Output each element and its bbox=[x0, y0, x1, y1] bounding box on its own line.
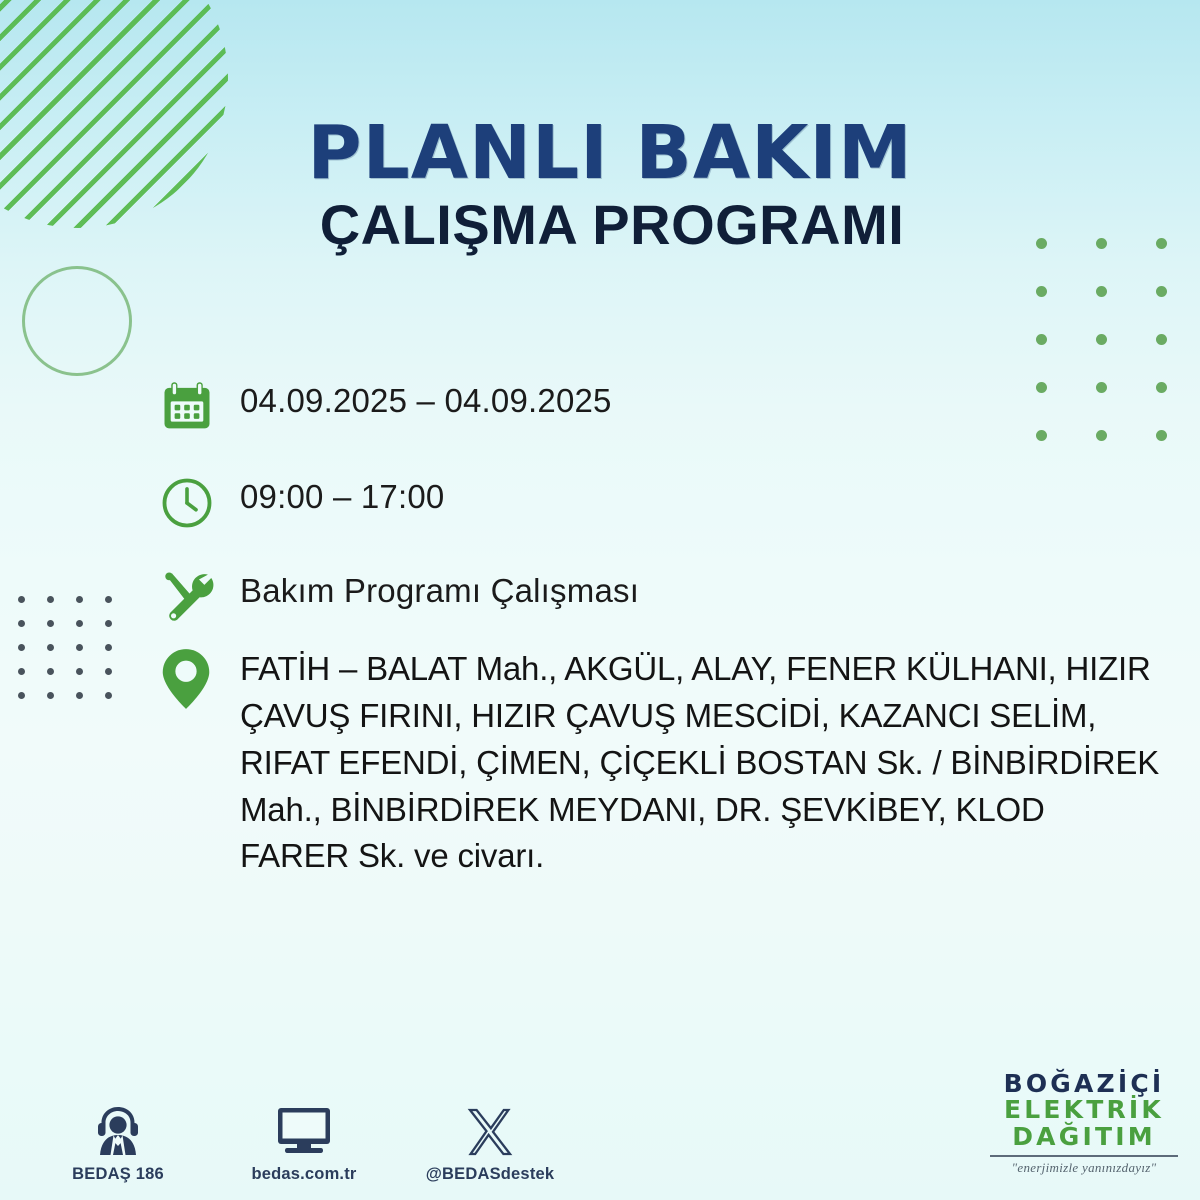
dot bbox=[18, 668, 25, 675]
circle-outline-decoration bbox=[22, 266, 132, 376]
logo-line-1: BOĞAZİÇİ bbox=[986, 1071, 1182, 1098]
poster-header: PLANLI BAKIM ÇALIŞMA PROGRAMI bbox=[0, 116, 1200, 255]
calendar-icon bbox=[160, 378, 240, 434]
contact-website[interactable]: bedas.com.tr bbox=[234, 1098, 374, 1184]
work-type-value: Bakım Programı Çalışması bbox=[240, 568, 639, 607]
date-range-value: 04.09.2025 – 04.09.2025 bbox=[240, 378, 612, 417]
dot bbox=[1036, 286, 1047, 297]
dot bbox=[47, 644, 54, 651]
contact-channels: BEDAŞ 186 bedas.com.tr bbox=[48, 1098, 560, 1184]
dot bbox=[76, 596, 83, 603]
poster-canvas: PLANLI BAKIM ÇALIŞMA PROGRAMI bbox=[0, 0, 1200, 1200]
dot bbox=[18, 644, 25, 651]
dot bbox=[105, 668, 112, 675]
dot bbox=[76, 620, 83, 627]
dot bbox=[1096, 334, 1107, 345]
time-range-value: 09:00 – 17:00 bbox=[240, 474, 444, 513]
tools-icon bbox=[160, 568, 240, 622]
dot bbox=[1156, 334, 1167, 345]
dot bbox=[1036, 334, 1047, 345]
detail-row-location: FATİH – BALAT Mah., AKGÜL, ALAY, FENER K… bbox=[160, 646, 1160, 880]
dot bbox=[47, 596, 54, 603]
detail-row-time: 09:00 – 17:00 bbox=[160, 474, 1160, 530]
dot bbox=[47, 668, 54, 675]
logo-divider bbox=[990, 1155, 1178, 1157]
logo-line-2: ELEKTRİK bbox=[986, 1097, 1182, 1124]
detail-row-work-type: Bakım Programı Çalışması bbox=[160, 568, 1160, 622]
contact-phone-label: BEDAŞ 186 bbox=[72, 1165, 164, 1184]
dot bbox=[1156, 286, 1167, 297]
dot bbox=[105, 692, 112, 699]
dot bbox=[1096, 286, 1107, 297]
dot bbox=[47, 620, 54, 627]
monitor-icon bbox=[276, 1098, 332, 1156]
logo-line-3: DAĞITIM bbox=[986, 1124, 1182, 1151]
dot bbox=[76, 644, 83, 651]
page-subtitle: ÇALIŞMA PROGRAMI bbox=[0, 196, 1200, 255]
detail-row-date: 04.09.2025 – 04.09.2025 bbox=[160, 378, 1160, 434]
location-value: FATİH – BALAT Mah., AKGÜL, ALAY, FENER K… bbox=[240, 646, 1160, 880]
dot bbox=[76, 668, 83, 675]
call-center-agent-icon bbox=[93, 1098, 143, 1156]
page-title: PLANLI BAKIM bbox=[0, 116, 1200, 190]
dot bbox=[18, 596, 25, 603]
contact-x-label: @BEDASdestek bbox=[426, 1165, 555, 1184]
logo-tagline: "enerjimizle yanınızdayız" bbox=[986, 1160, 1182, 1176]
dot bbox=[76, 692, 83, 699]
dot bbox=[105, 620, 112, 627]
dot bbox=[18, 692, 25, 699]
dot bbox=[47, 692, 54, 699]
dot-grid-left-decoration bbox=[18, 596, 134, 716]
contact-website-label: bedas.com.tr bbox=[251, 1165, 356, 1184]
dot bbox=[105, 596, 112, 603]
location-pin-icon bbox=[160, 646, 240, 710]
bedas-logo: BOĞAZİÇİ ELEKTRİK DAĞITIM "enerjimizle y… bbox=[986, 1071, 1182, 1177]
dot bbox=[105, 644, 112, 651]
contact-phone[interactable]: BEDAŞ 186 bbox=[48, 1098, 188, 1184]
poster-footer: BEDAŞ 186 bedas.com.tr bbox=[0, 1030, 1200, 1200]
dot bbox=[18, 620, 25, 627]
outage-details: 04.09.2025 – 04.09.2025 09:00 – 17:00 bbox=[160, 378, 1160, 908]
contact-x[interactable]: @BEDASdestek bbox=[420, 1098, 560, 1184]
clock-icon bbox=[160, 474, 240, 530]
x-twitter-icon bbox=[467, 1098, 513, 1156]
